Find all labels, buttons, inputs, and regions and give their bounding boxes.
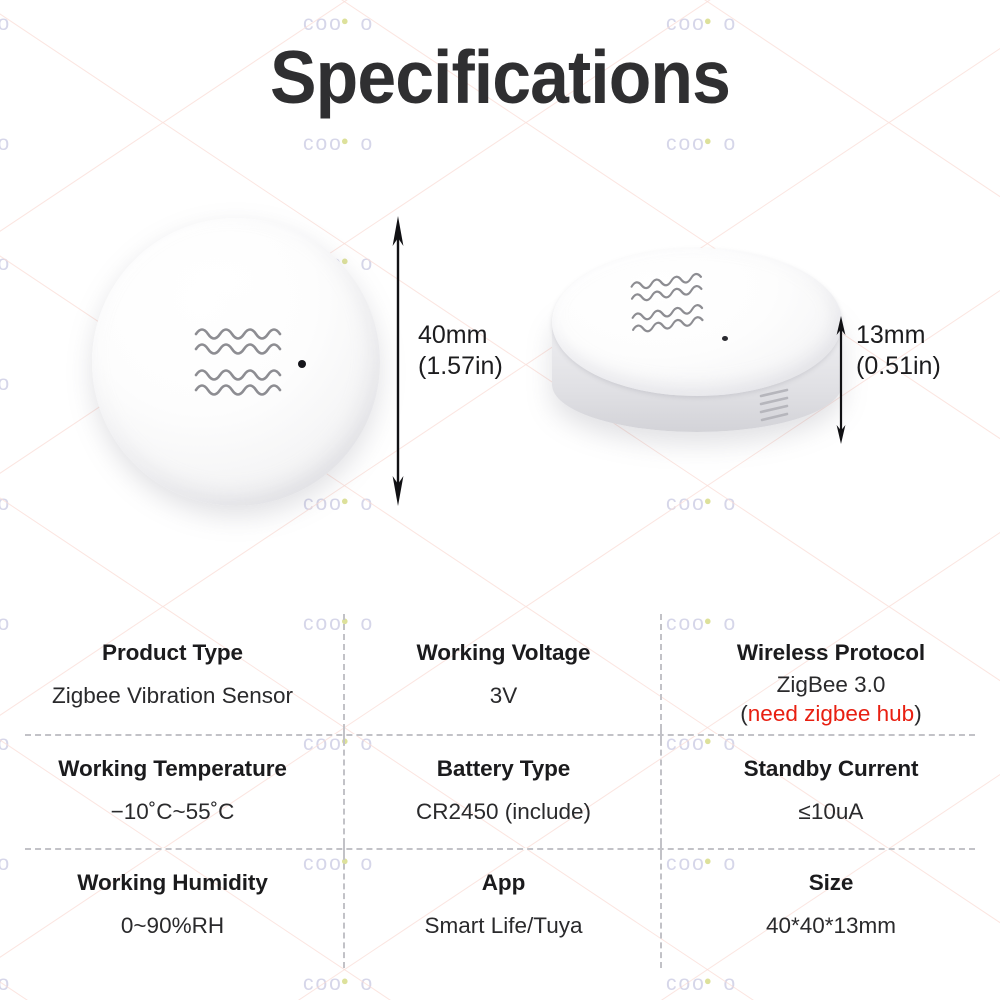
table-row: Product Type Zigbee Vibration Sensor Wor… <box>0 620 1000 734</box>
zigbee-vibration-sensor-top-view <box>92 218 380 506</box>
diameter-dimension-arrow <box>388 216 408 506</box>
diameter-dimension-label: 40mm (1.57in) <box>418 320 503 382</box>
watermark-text: coo● o <box>0 972 11 996</box>
note-paren-open: ( <box>740 701 748 726</box>
spec-label: Battery Type <box>437 756 570 782</box>
spec-cell-working-humidity: Working Humidity 0~90%RH <box>0 850 345 962</box>
watermark-text: coo● o <box>666 972 737 996</box>
led-indicator-dot <box>298 360 306 368</box>
note-red-text: need zigbee hub <box>748 701 914 726</box>
row-divider <box>25 734 975 736</box>
note-paren-close: ) <box>914 701 922 726</box>
spec-cell-wireless-protocol: Wireless Protocol ZigBee 3.0 (need zigbe… <box>662 620 1000 734</box>
speaker-vent-grille <box>757 386 793 428</box>
table-row: Working Humidity 0~90%RH App Smart Life/… <box>0 848 1000 962</box>
height-imperial: (0.51in) <box>856 351 941 382</box>
spec-cell-battery-type: Battery Type CR2450 (include) <box>345 736 662 848</box>
spec-value: ≤10uA <box>799 798 864 826</box>
spec-value: CR2450 (include) <box>416 798 591 826</box>
height-dimension-arrow <box>833 316 849 444</box>
watermark-text: coo● o <box>0 12 11 36</box>
table-row: Working Temperature −10˚C~55˚C Battery T… <box>0 734 1000 848</box>
spec-cell-working-voltage: Working Voltage 3V <box>345 620 662 734</box>
spec-label: Product Type <box>102 640 243 666</box>
watermark-text: coo● o <box>303 132 374 156</box>
sensor-top-face <box>552 248 842 396</box>
spec-label: Working Voltage <box>417 640 591 666</box>
spec-label: Working Temperature <box>58 756 287 782</box>
specifications-page: coo● ocoo● ocoo● ocoo● ocoo● ocoo● ocoo●… <box>0 0 1000 1000</box>
spec-value: 40*40*13mm <box>766 912 896 940</box>
spec-label: App <box>482 870 525 896</box>
diameter-imperial: (1.57in) <box>418 351 503 382</box>
specifications-table: Product Type Zigbee Vibration Sensor Wor… <box>0 620 1000 962</box>
height-metric: 13mm <box>856 320 941 351</box>
spec-value: 3V <box>490 682 518 710</box>
spec-value: ZigBee 3.0 <box>777 671 886 699</box>
spec-label: Working Humidity <box>77 870 268 896</box>
vibration-wave-icon <box>194 323 289 401</box>
spec-cell-standby-current: Standby Current ≤10uA <box>662 736 1000 848</box>
row-divider <box>25 848 975 850</box>
page-title: Specifications <box>35 38 965 116</box>
watermark-text: coo● o <box>303 972 374 996</box>
spec-note-hub-required: (need zigbee hub) <box>740 699 921 728</box>
spec-label: Standby Current <box>744 756 919 782</box>
spec-cell-product-type: Product Type Zigbee Vibration Sensor <box>0 620 345 734</box>
spec-value: −10˚C~55˚C <box>111 798 235 826</box>
spec-cell-app: App Smart Life/Tuya <box>345 850 662 962</box>
spec-value: Smart Life/Tuya <box>425 912 583 940</box>
spec-cell-size: Size 40*40*13mm <box>662 850 1000 962</box>
watermark-text: coo● o <box>666 132 737 156</box>
spec-cell-working-temperature: Working Temperature −10˚C~55˚C <box>0 736 345 848</box>
spec-value: Zigbee Vibration Sensor <box>52 682 293 710</box>
diameter-metric: 40mm <box>418 320 503 351</box>
height-dimension-label: 13mm (0.51in) <box>856 320 941 382</box>
spec-label: Size <box>809 870 854 896</box>
watermark-text: coo● o <box>303 12 374 36</box>
watermark-text: coo● o <box>0 132 11 156</box>
led-indicator-dot <box>722 336 728 341</box>
spec-label: Wireless Protocol <box>737 640 925 666</box>
zigbee-vibration-sensor-perspective-view <box>552 248 842 478</box>
spec-value: 0~90%RH <box>121 912 224 940</box>
watermark-text: coo● o <box>666 12 737 36</box>
